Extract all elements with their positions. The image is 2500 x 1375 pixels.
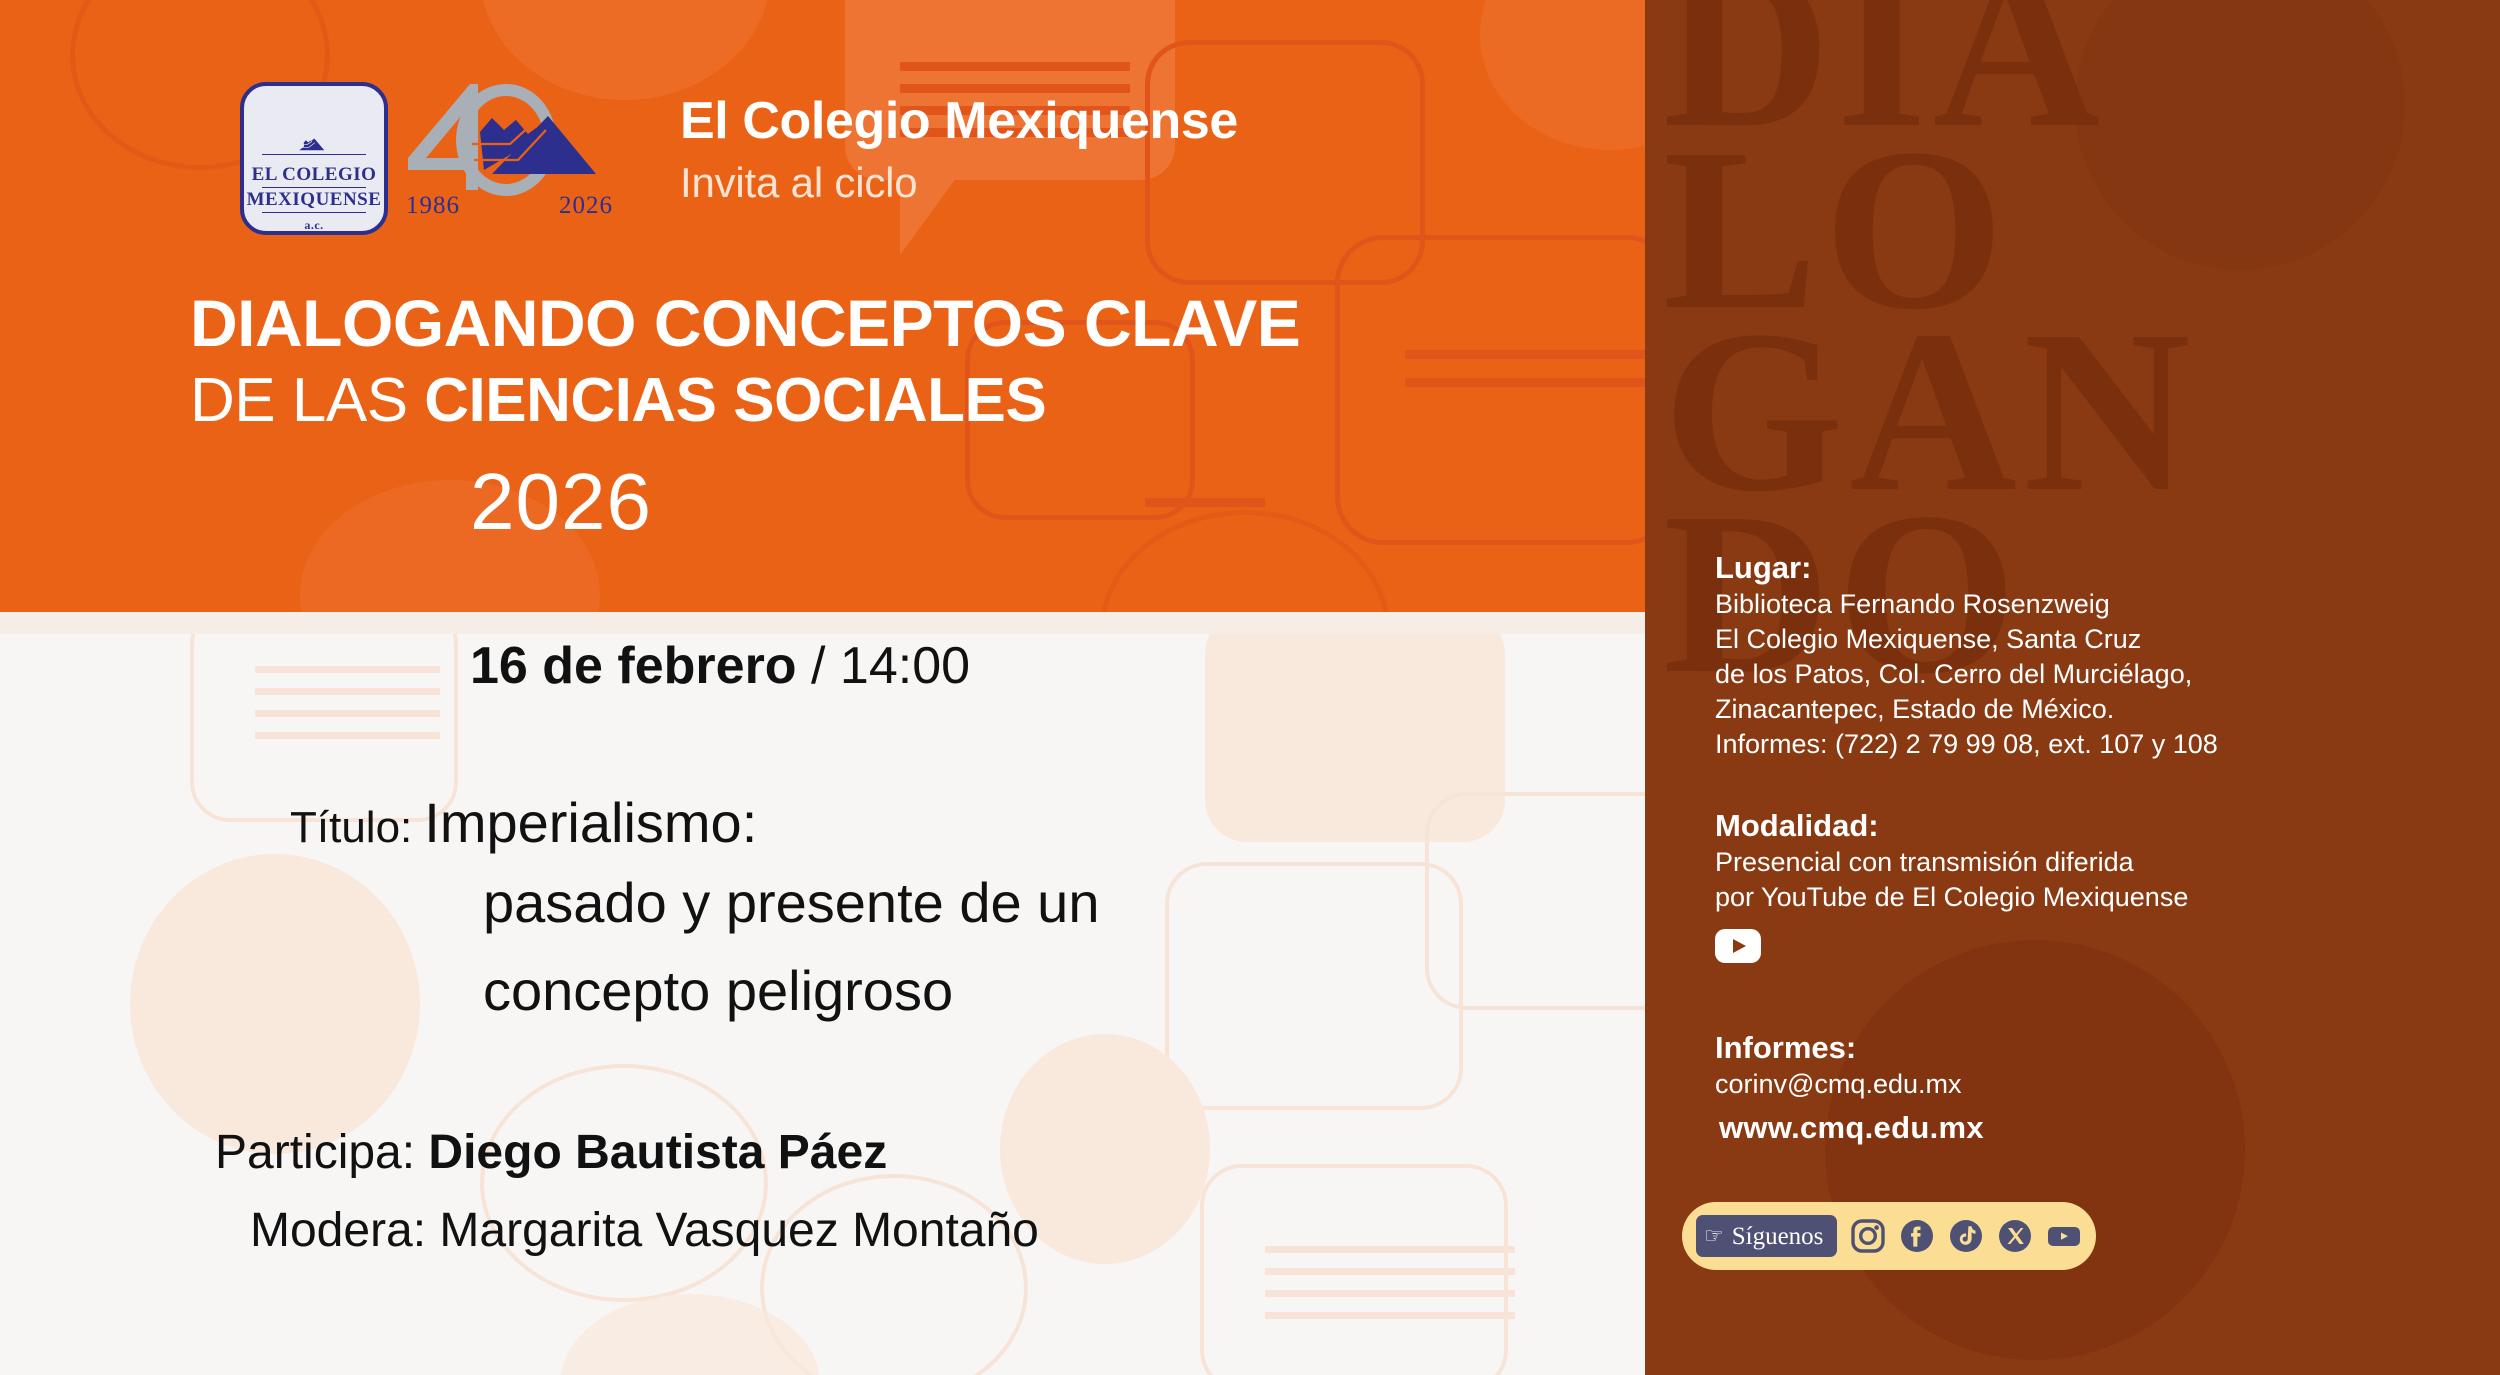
modality-line: por YouTube de El Colegio Mexiquense bbox=[1715, 880, 2475, 915]
speaker-name: Diego Bautista Páez bbox=[428, 1126, 887, 1179]
venue-phone-line: Informes: (722) 2 79 99 08, ext. 107 y 1… bbox=[1715, 727, 2475, 762]
bubble-line-decoration bbox=[900, 62, 1130, 71]
right-info-panel: DIA LO GAN DO Lugar: Biblioteca Fernando… bbox=[1645, 0, 2500, 1375]
speaker-label: Participa: bbox=[215, 1126, 428, 1179]
logo-line-3: a.c. bbox=[304, 219, 323, 231]
orange-header-band: EL COLEGIO MEXIQUENSE a.c. 1986 bbox=[0, 0, 1645, 612]
bubble-line-decoration bbox=[255, 688, 440, 695]
bubble-line-decoration bbox=[1405, 350, 1645, 359]
speaker-row: Participa: Diego Bautista Páez bbox=[215, 1125, 887, 1180]
speech-bubble-outline-decoration bbox=[480, 1064, 768, 1302]
moderator-label: Modera: bbox=[250, 1204, 439, 1257]
left-column: EL COLEGIO MEXIQUENSE a.c. 1986 bbox=[0, 0, 1645, 1375]
venue-block: Lugar: Biblioteca Fernando Rosenzweig El… bbox=[1715, 550, 2475, 762]
cream-divider-strip bbox=[0, 612, 1645, 634]
bubble-line-decoration bbox=[1405, 378, 1645, 387]
bubble-line-decoration bbox=[1265, 1246, 1515, 1253]
contact-block: Informes: corinv@cmq.edu.mx bbox=[1715, 1030, 2475, 1102]
contact-email[interactable]: corinv@cmq.edu.mx bbox=[1715, 1067, 2475, 1102]
series-title-line-2: DE LAS CIENCIAS SOCIALES bbox=[190, 370, 1046, 432]
facebook-icon[interactable] bbox=[1899, 1218, 1935, 1254]
bubble-line-decoration bbox=[1265, 1268, 1515, 1275]
youtube-icon[interactable] bbox=[2046, 1218, 2082, 1254]
series-year: 2026 bbox=[470, 462, 652, 542]
pointing-hand-icon: ☞ bbox=[1704, 1225, 1724, 1247]
venue-heading: Lugar: bbox=[1715, 550, 2475, 587]
bubble-line-decoration bbox=[255, 732, 440, 739]
logo-divider bbox=[262, 187, 366, 188]
bubble-line-decoration bbox=[255, 666, 440, 673]
bubble-line-decoration bbox=[255, 710, 440, 717]
event-date: 16 de febrero bbox=[470, 637, 797, 695]
logo-line-2: MEXIQUENSE bbox=[247, 190, 382, 209]
series-title-line-1: DIALOGANDO CONCEPTOS CLAVE bbox=[190, 290, 1300, 356]
anniversary-40-logo: 1986 2026 bbox=[400, 78, 615, 218]
colegio-mexiquense-logo: EL COLEGIO MEXIQUENSE a.c. bbox=[240, 82, 388, 235]
modality-heading: Modalidad: bbox=[1715, 808, 2475, 845]
youtube-icon[interactable] bbox=[1715, 929, 1761, 963]
series-title-line-2-thin: DE LAS bbox=[190, 366, 424, 435]
modality-line: Presencial con transmisión diferida bbox=[1715, 845, 2475, 880]
venue-line: Zinacantepec, Estado de México. bbox=[1715, 692, 2475, 727]
social-media-bar: ☞ Síguenos bbox=[1682, 1202, 2096, 1270]
tiktok-icon[interactable] bbox=[1948, 1218, 1984, 1254]
circle-decoration bbox=[1825, 940, 2245, 1360]
instagram-icon[interactable] bbox=[1850, 1218, 1886, 1254]
bubble-line-decoration bbox=[1145, 498, 1265, 507]
website-link[interactable]: www.cmq.edu.mx bbox=[1719, 1110, 1984, 1146]
logo-divider bbox=[262, 154, 366, 155]
bubble-line-decoration bbox=[1265, 1290, 1515, 1297]
speech-bubble-outline-decoration bbox=[1165, 862, 1463, 1110]
date-time-separator: / bbox=[797, 637, 840, 695]
talk-title-line-2: pasado y presente de un bbox=[483, 870, 1099, 935]
talk-title-label: Título: bbox=[290, 803, 412, 853]
talk-title-line-1: Imperialismo: bbox=[424, 790, 757, 855]
institution-name: El Colegio Mexiquense bbox=[680, 95, 1238, 147]
speech-bubble-decoration bbox=[1480, 0, 1645, 150]
moderator-name: Margarita Vasquez Montaño bbox=[439, 1204, 1038, 1257]
venue-line: de los Patos, Col. Cerro del Murciélago, bbox=[1715, 657, 2475, 692]
mountain-icon bbox=[255, 138, 373, 151]
anniversary-year-to: 2026 bbox=[559, 192, 613, 220]
speech-bubble-outline-decoration bbox=[1335, 235, 1645, 545]
event-time: 14:00 bbox=[840, 637, 970, 695]
series-title-line-2-bold: CIENCIAS SOCIALES bbox=[424, 366, 1046, 435]
invitation-text: Invita al ciclo bbox=[680, 162, 917, 204]
logo-divider bbox=[262, 212, 366, 213]
modality-block: Modalidad: Presencial con transmisión di… bbox=[1715, 808, 2475, 968]
event-poster: EL COLEGIO MEXIQUENSE a.c. 1986 bbox=[0, 0, 2500, 1375]
speech-bubble-decoration bbox=[130, 854, 420, 1154]
follow-us-button[interactable]: ☞ Síguenos bbox=[1696, 1215, 1837, 1257]
bubble-line-decoration bbox=[1265, 1312, 1515, 1319]
talk-title-row: Título:Imperialismo: bbox=[290, 790, 1410, 855]
moderator-row: Modera: Margarita Vasquez Montaño bbox=[250, 1203, 1039, 1258]
event-date-time: 16 de febrero / 14:00 bbox=[470, 640, 970, 692]
venue-line: El Colegio Mexiquense, Santa Cruz bbox=[1715, 622, 2475, 657]
venue-line: Biblioteca Fernando Rosenzweig bbox=[1715, 587, 2475, 622]
logo-line-1: EL COLEGIO bbox=[252, 165, 377, 184]
contact-heading: Informes: bbox=[1715, 1030, 2475, 1067]
talk-title-line-3: concepto peligroso bbox=[483, 958, 953, 1023]
anniversary-40-icon bbox=[400, 78, 615, 196]
x-twitter-icon[interactable] bbox=[1997, 1218, 2033, 1254]
follow-us-label: Síguenos bbox=[1732, 1224, 1824, 1249]
anniversary-year-from: 1986 bbox=[406, 192, 460, 220]
